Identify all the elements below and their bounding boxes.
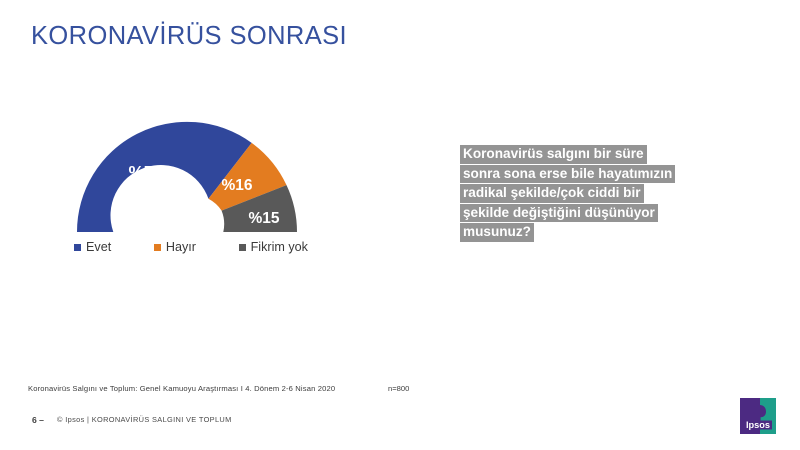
legend-swatch-icon [239,244,246,251]
sample-size: n=800 [388,384,409,393]
page-title: KORONAVİRÜS SONRASI [31,22,347,51]
slice-label-evet: %70 [128,162,163,182]
slide-canvas: KORONAVİRÜS SONRASI %70 %16 %15 Evet Hay… [0,0,800,450]
legend-label-evet: Evet [86,241,111,254]
chart-legend: Evet Hayır Fikrim yok [60,241,322,254]
legend-item-fikrim-yok[interactable]: Fikrim yok [239,241,308,254]
ipsos-logo-icon: Ipsos [740,398,776,434]
slice-label-hayir: %16 [221,177,252,194]
footer-copyright: © Ipsos | KORONAVİRÜS SALGINI VE TOPLUM [57,415,232,424]
legend-swatch-icon [74,244,81,251]
question-callout: Koronavirüs salgını bir süre sonra sona … [460,145,712,243]
ipsos-logo: Ipsos [740,398,776,434]
source-note: Koronavirüs Salgını ve Toplum: Genel Kam… [28,384,335,393]
slice-label-fikrim-yok: %15 [248,210,279,227]
question-line: şekilde değiştiğini düşünüyor [460,204,658,223]
legend-item-hayir[interactable]: Hayır [154,241,196,254]
legend-label-fikrim-yok: Fikrim yok [251,241,308,254]
question-line: sonra sona erse bile hayatımızın [460,165,675,184]
page-number: 6 – [32,415,44,425]
question-line: radikal şekilde/çok ciddi bir [460,184,644,203]
legend-label-hayir: Hayır [166,241,196,254]
question-line: musunuz? [460,223,534,242]
question-line: Koronavirüs salgını bir süre [460,145,647,164]
legend-swatch-icon [154,244,161,251]
legend-item-evet[interactable]: Evet [74,241,111,254]
ipsos-wordmark: Ipsos [746,420,770,430]
